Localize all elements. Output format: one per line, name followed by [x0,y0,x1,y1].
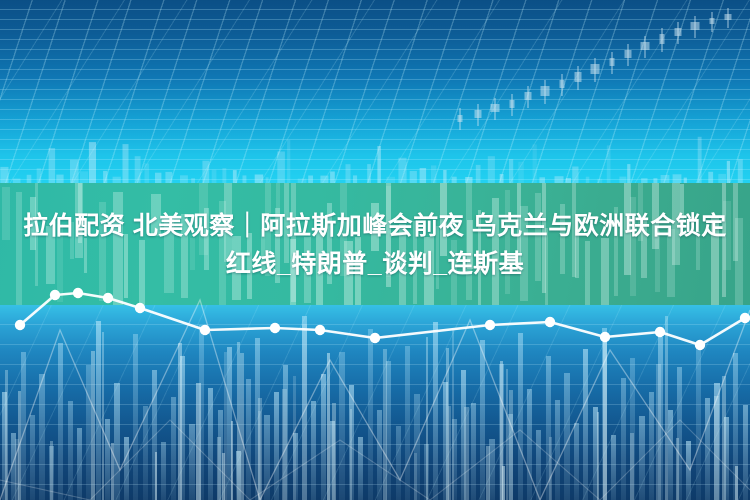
page-title: 拉伯配资 北美观察｜阿拉斯加峰会前夜 乌克兰与欧洲联合锁定 红线_特朗普_谈判_… [0,207,750,283]
title-line-2: 红线_特朗普_谈判_连斯基 [14,245,736,283]
sky-diagonal-gridlines-secondary [0,0,750,185]
promo-banner: 拉伯配资 北美观察｜阿拉斯加峰会前夜 乌克兰与欧洲联合锁定 红线_特朗普_谈判_… [0,0,750,500]
title-line-1: 拉伯配资 北美观察｜阿拉斯加峰会前夜 乌克兰与欧洲联合锁定 [14,207,736,245]
lower-diagonal-gridlines [0,305,750,500]
